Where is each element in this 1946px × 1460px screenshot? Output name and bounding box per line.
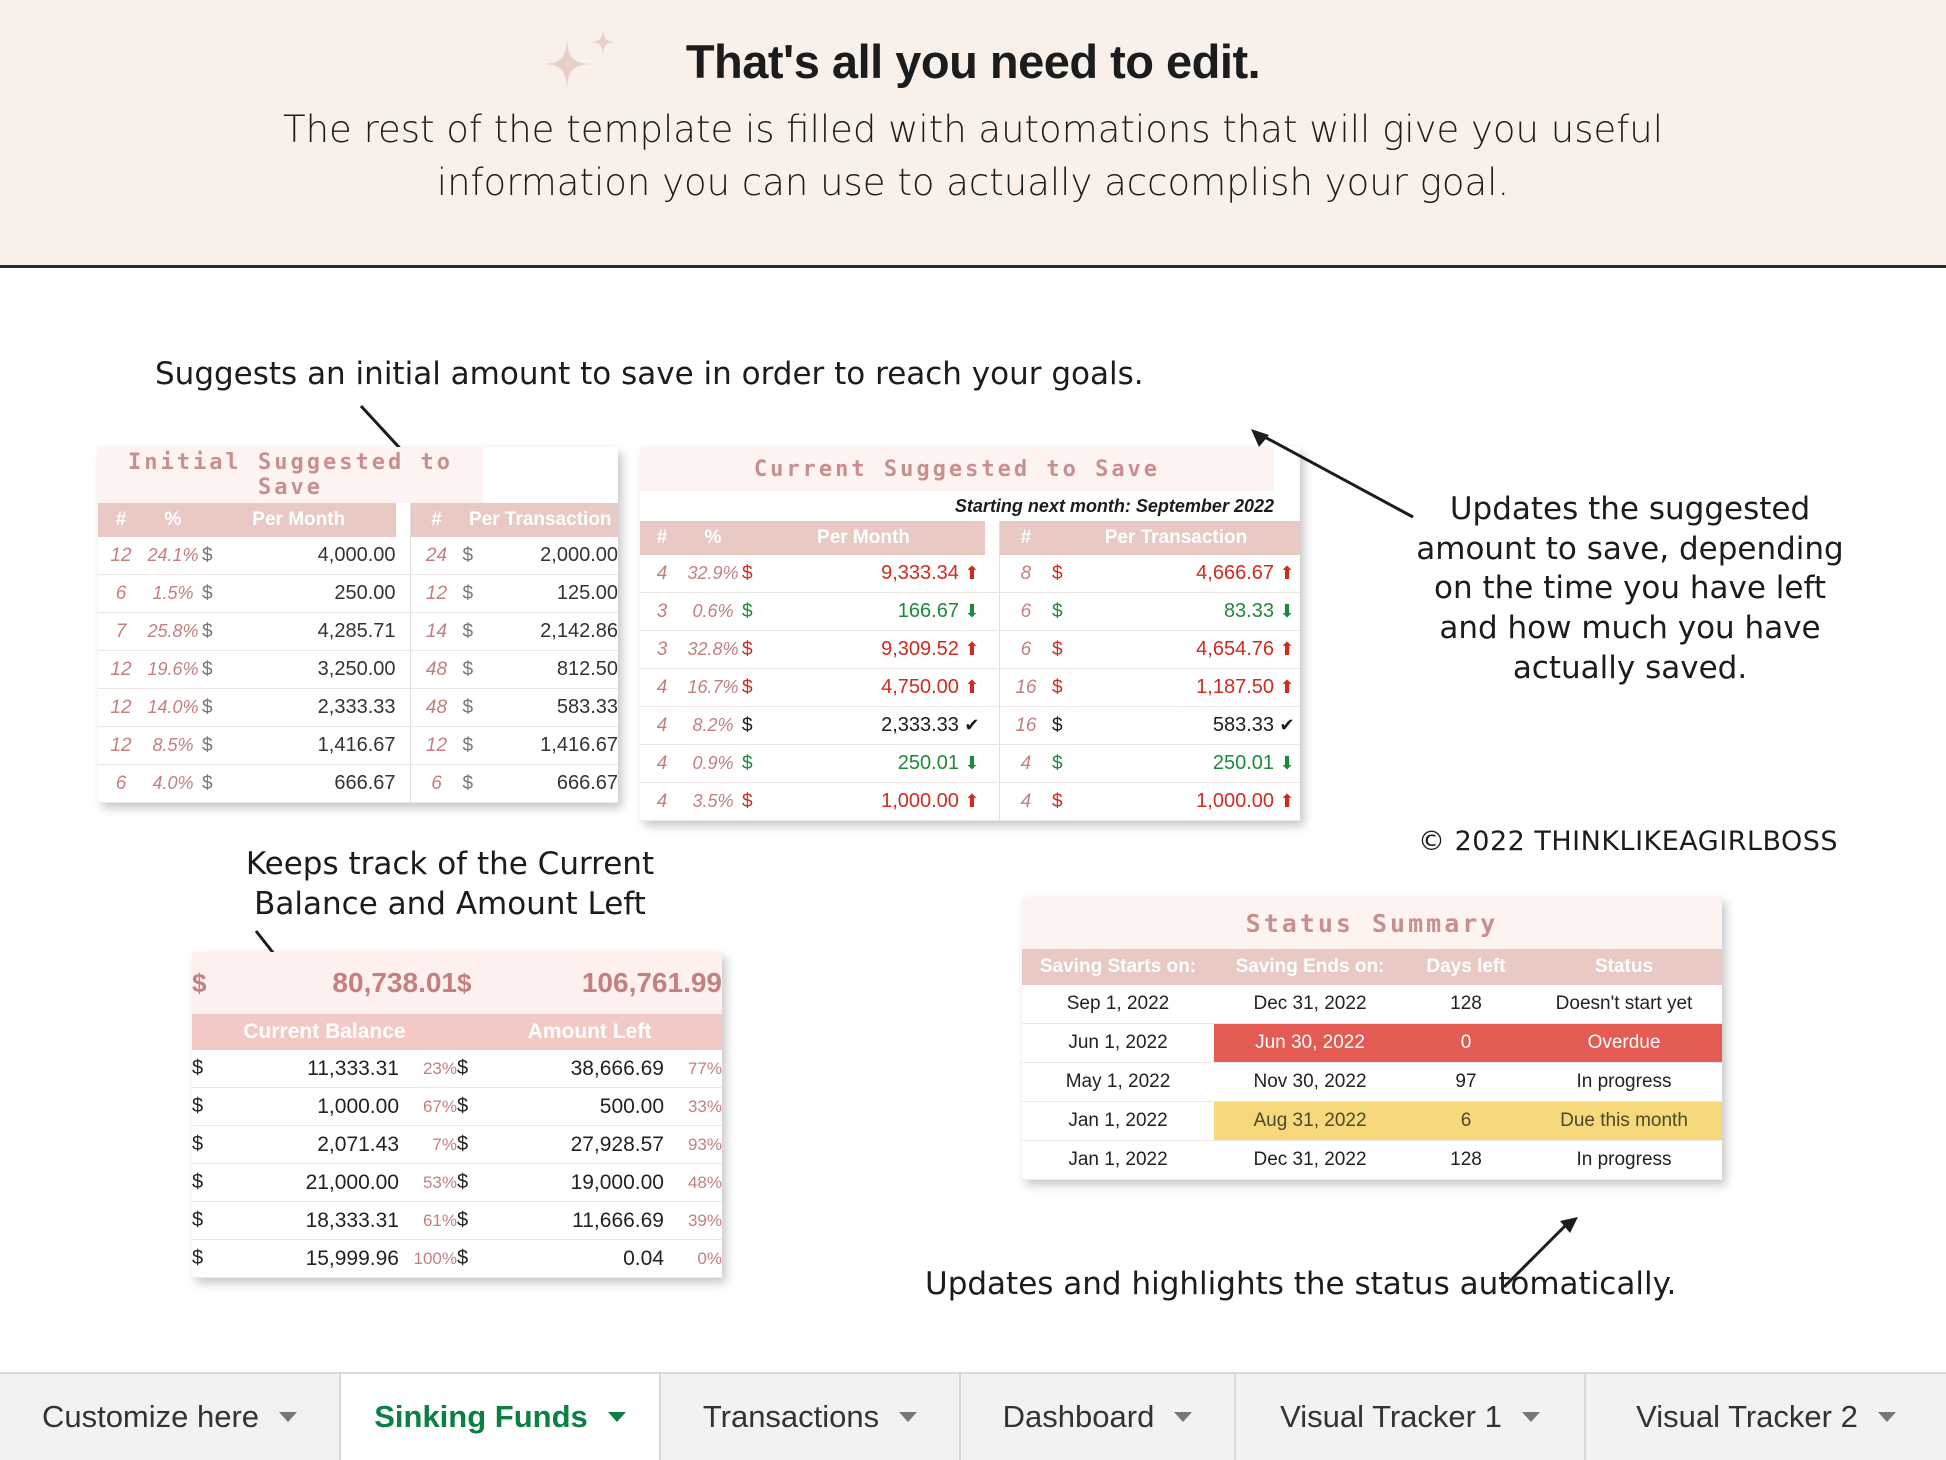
trend-up-icon: ⬆ xyxy=(959,555,985,593)
cell: 38,666.69 xyxy=(495,1050,664,1088)
trend-up-icon: ⬆ xyxy=(959,669,985,707)
cell: $ xyxy=(742,745,768,783)
cell: $ xyxy=(457,1164,495,1202)
cell: $ xyxy=(192,1088,230,1126)
status-table-title: Status Summary xyxy=(1022,897,1722,949)
tab-transactions[interactable]: Transactions xyxy=(661,1374,961,1460)
cell: 27,928.57 xyxy=(495,1126,664,1164)
cell: 4,666.67 xyxy=(1078,555,1274,593)
banner-subtitle-line2: information you can use to actually acco… xyxy=(0,157,1946,210)
cell: 33% xyxy=(664,1088,722,1126)
cell: $ xyxy=(457,1126,495,1164)
cell: 166.67 xyxy=(768,593,959,631)
cell: Jan 1, 2022 xyxy=(1022,1102,1214,1141)
table-row[interactable]: 12 24.1% $ 4,000.00 24 $ 2,000.00 xyxy=(98,537,618,575)
table-row[interactable]: May 1, 2022 Nov 30, 2022 97 In progress xyxy=(1022,1063,1722,1102)
initial-header-4: Per Transaction xyxy=(463,503,619,537)
cell: $ xyxy=(192,1240,230,1278)
cell: $ xyxy=(192,1164,230,1202)
current-header-4: Per Transaction xyxy=(1052,521,1300,555)
cell: 4 xyxy=(640,669,684,707)
cell: $ xyxy=(457,1088,495,1126)
balance-header-0: Current Balance xyxy=(192,1014,457,1050)
cell: 8 xyxy=(999,555,1052,593)
tab-visual-tracker-2[interactable]: Visual Tracker 2 xyxy=(1586,1374,1946,1460)
table-row[interactable]: 12 14.0% $ 2,333.33 48 $ 583.33 xyxy=(98,689,618,727)
cell: 6 xyxy=(999,631,1052,669)
trend-up-icon: ⬆ xyxy=(1274,669,1300,707)
cell xyxy=(396,727,411,765)
current-balance-currency: $ xyxy=(192,952,230,1014)
current-table-title: Current Suggested to Save xyxy=(640,447,1274,491)
annotation-updates-l5: actually saved. xyxy=(1370,649,1890,689)
initial-table-title: Initial Suggested to Save xyxy=(98,447,483,503)
initial-header-1: % xyxy=(144,503,202,537)
cell xyxy=(985,555,1000,593)
cell: $ xyxy=(457,1050,495,1088)
cell: $ xyxy=(1052,593,1079,631)
current-header-0: # xyxy=(640,521,684,555)
cell: $ xyxy=(463,765,484,803)
cell: 12 xyxy=(98,651,144,689)
amount-left-total: 106,761.99 xyxy=(495,952,722,1014)
status-header-1: Saving Ends on: xyxy=(1214,949,1406,985)
cell: 7 xyxy=(98,613,144,651)
cell: 4 xyxy=(640,555,684,593)
table-row[interactable]: 3 32.8% $ 9,309.52 ⬆ 6 $ 4,654.76 ⬆ xyxy=(640,631,1300,669)
check-icon: ✔ xyxy=(959,707,985,745)
cell: 500.00 xyxy=(495,1088,664,1126)
cell: 15,999.96 xyxy=(230,1240,399,1278)
cell: $ xyxy=(192,1202,230,1240)
cell: Aug 31, 2022 xyxy=(1214,1102,1406,1141)
cell: 19.6% xyxy=(144,651,202,689)
cell: Dec 31, 2022 xyxy=(1214,1141,1406,1180)
table-row[interactable]: $ 2,071.43 7% $ 27,928.57 93% xyxy=(192,1126,722,1164)
cell: 1,416.67 xyxy=(483,727,618,765)
table-row[interactable]: $ 1,000.00 67% $ 500.00 33% xyxy=(192,1088,722,1126)
cell: May 1, 2022 xyxy=(1022,1063,1214,1102)
initial-suggested-table[interactable]: Initial Suggested to Save # % Per Month … xyxy=(98,447,618,803)
cell: 9,309.52 xyxy=(768,631,959,669)
cell: Sep 1, 2022 xyxy=(1022,985,1214,1024)
status-badge: Doesn't start yet xyxy=(1526,985,1722,1024)
cell: 3,250.00 xyxy=(225,651,395,689)
banner-subtitle-line1: The rest of the template is filled with … xyxy=(0,104,1946,157)
check-icon: ✔ xyxy=(1274,707,1300,745)
chevron-down-icon[interactable] xyxy=(608,1412,626,1422)
current-spacer xyxy=(985,521,1000,555)
table-row[interactable]: 6 1.5% $ 250.00 12 $ 125.00 xyxy=(98,575,618,613)
cell: 97 xyxy=(1406,1063,1526,1102)
cell: 4,654.76 xyxy=(1078,631,1274,669)
table-row[interactable]: Jan 1, 2022 Aug 31, 2022 6 Due this mont… xyxy=(1022,1102,1722,1141)
trend-down-icon: ⬇ xyxy=(959,745,985,783)
table-row[interactable]: 12 19.6% $ 3,250.00 48 $ 812.50 xyxy=(98,651,618,689)
table-row[interactable]: 4 3.5% $ 1,000.00 ⬆ 4 $ 1,000.00 ⬆ xyxy=(640,783,1300,821)
cell xyxy=(985,783,1000,821)
cell: 4 xyxy=(640,707,684,745)
header-banner: That's all you need to edit. The rest of… xyxy=(0,0,1946,268)
table-row[interactable]: Jan 1, 2022 Dec 31, 2022 128 In progress xyxy=(1022,1141,1722,1180)
cell: $ xyxy=(457,1240,495,1278)
starting-next-month-note: Starting next month: September 2022 xyxy=(640,491,1274,521)
cell: 21,000.00 xyxy=(230,1164,399,1202)
cell xyxy=(396,537,411,575)
status-header-0: Saving Starts on: xyxy=(1022,949,1214,985)
cell: 18,333.31 xyxy=(230,1202,399,1240)
cell: 6 xyxy=(999,593,1052,631)
trend-up-icon: ⬆ xyxy=(959,783,985,821)
status-badge: In progress xyxy=(1526,1063,1722,1102)
cell: 4.0% xyxy=(144,765,202,803)
cell: 2,333.33 xyxy=(225,689,395,727)
cell: Nov 30, 2022 xyxy=(1214,1063,1406,1102)
cell: 3 xyxy=(640,631,684,669)
cell: 9,333.34 xyxy=(768,555,959,593)
cell: 2,333.33 xyxy=(768,707,959,745)
cell: 6 xyxy=(1406,1102,1526,1141)
chevron-down-icon[interactable] xyxy=(1174,1412,1192,1422)
table-row[interactable]: 4 32.9% $ 9,333.34 ⬆ 8 $ 4,666.67 ⬆ xyxy=(640,555,1300,593)
cell: $ xyxy=(1052,669,1079,707)
initial-header-0: # xyxy=(98,503,144,537)
cell: 32.8% xyxy=(684,631,742,669)
cell: 100% xyxy=(399,1240,457,1278)
cell: 3.5% xyxy=(684,783,742,821)
amount-left-currency: $ xyxy=(457,952,495,1014)
cell xyxy=(396,613,411,651)
cell: 1,000.00 xyxy=(768,783,959,821)
cell: 666.67 xyxy=(483,765,618,803)
current-header-1: % xyxy=(684,521,742,555)
cell: 32.9% xyxy=(684,555,742,593)
cell: 16 xyxy=(999,707,1052,745)
cell: 1,416.67 xyxy=(225,727,395,765)
table-row[interactable]: $ 15,999.96 100% $ 0.04 0% xyxy=(192,1240,722,1278)
tab-visual-tracker-1[interactable]: Visual Tracker 1 xyxy=(1236,1374,1586,1460)
status-badge: In progress xyxy=(1526,1141,1722,1180)
cell: 2,000.00 xyxy=(483,537,618,575)
tab-dashboard[interactable]: Dashboard xyxy=(961,1374,1236,1460)
cell: 6 xyxy=(410,765,463,803)
cell: $ xyxy=(742,707,768,745)
cell: 1,000.00 xyxy=(1078,783,1274,821)
initial-header-2: Per Month xyxy=(202,503,396,537)
cell: 83.33 xyxy=(1078,593,1274,631)
chevron-down-icon[interactable] xyxy=(279,1412,297,1422)
cell xyxy=(985,593,1000,631)
cell: 0.04 xyxy=(495,1240,664,1278)
cell: 24.1% xyxy=(144,537,202,575)
cell: 12 xyxy=(98,537,144,575)
cell: 16.7% xyxy=(684,669,742,707)
cell: 4,750.00 xyxy=(768,669,959,707)
cell xyxy=(396,575,411,613)
banner-title: That's all you need to edit. xyxy=(0,34,1946,89)
cell: 39% xyxy=(664,1202,722,1240)
status-badge: Due this month xyxy=(1526,1102,1722,1141)
cell: $ xyxy=(463,689,484,727)
cell: $ xyxy=(457,1202,495,1240)
cell: $ xyxy=(202,765,225,803)
cell: Jun 1, 2022 xyxy=(1022,1024,1214,1063)
cell: $ xyxy=(463,575,484,613)
cell: $ xyxy=(463,613,484,651)
cell: $ xyxy=(1052,631,1079,669)
trend-up-icon: ⬆ xyxy=(959,631,985,669)
cell: 812.50 xyxy=(483,651,618,689)
trend-up-icon: ⬆ xyxy=(1274,631,1300,669)
cell: Jan 1, 2022 xyxy=(1022,1141,1214,1180)
chevron-down-icon[interactable] xyxy=(1878,1412,1896,1422)
cell: 6 xyxy=(98,765,144,803)
cell: $ xyxy=(1052,783,1079,821)
cell xyxy=(985,631,1000,669)
cell xyxy=(396,689,411,727)
cell: 7% xyxy=(399,1126,457,1164)
tab-label: Visual Tracker 1 xyxy=(1280,1399,1502,1435)
trend-up-icon: ⬆ xyxy=(1274,783,1300,821)
cell: 12 xyxy=(98,727,144,765)
cell: $ xyxy=(202,613,225,651)
cell: 583.33 xyxy=(1078,707,1274,745)
cell: Dec 31, 2022 xyxy=(1214,985,1406,1024)
trend-down-icon: ⬇ xyxy=(959,593,985,631)
initial-header-3: # xyxy=(410,503,463,537)
cell: $ xyxy=(202,727,225,765)
table-row[interactable]: Jun 1, 2022 Jun 30, 2022 0 Overdue xyxy=(1022,1024,1722,1063)
cell: $ xyxy=(742,555,768,593)
tab-label: Transactions xyxy=(703,1399,879,1435)
table-row[interactable]: 12 8.5% $ 1,416.67 12 $ 1,416.67 xyxy=(98,727,618,765)
cell: 583.33 xyxy=(483,689,618,727)
cell: 16 xyxy=(999,669,1052,707)
cell: 128 xyxy=(1406,985,1526,1024)
cell: 250.01 xyxy=(768,745,959,783)
cell: 61% xyxy=(399,1202,457,1240)
cell: 24 xyxy=(410,537,463,575)
cell xyxy=(985,745,1000,783)
table-row[interactable]: 4 0.9% $ 250.01 ⬇ 4 $ 250.01 ⬇ xyxy=(640,745,1300,783)
annotation-status: Updates and highlights the status automa… xyxy=(925,1265,1925,1305)
cell: 77% xyxy=(664,1050,722,1088)
balance-table[interactable]: $ 80,738.01 $ 106,761.99 Current Balance… xyxy=(192,952,722,1278)
sheet-tab-bar: Customize here Sinking Funds Transaction… xyxy=(0,1372,1946,1460)
cell: 1,000.00 xyxy=(230,1088,399,1126)
cell: 23% xyxy=(399,1050,457,1088)
chevron-down-icon[interactable] xyxy=(1522,1412,1540,1422)
copyright-text: © 2022 THINKLIKEAGIRLBOSS xyxy=(1418,826,1838,857)
cell: 0% xyxy=(664,1240,722,1278)
tab-label: Visual Tracker 2 xyxy=(1636,1399,1858,1435)
cell: 3 xyxy=(640,593,684,631)
cell: 53% xyxy=(399,1164,457,1202)
cell: 128 xyxy=(1406,1141,1526,1180)
annotation-updates-l3: on the time you have left xyxy=(1370,569,1890,609)
table-row[interactable]: 4 8.2% $ 2,333.33 ✔ 16 $ 583.33 ✔ xyxy=(640,707,1300,745)
annotation-balance-l1: Keeps track of the Current xyxy=(195,845,705,885)
banner-subtitle: The rest of the template is filled with … xyxy=(0,104,1946,209)
annotation-updates: Updates the suggested amount to save, de… xyxy=(1370,490,1890,688)
table-row[interactable]: 6 4.0% $ 666.67 6 $ 666.67 xyxy=(98,765,618,803)
cell: 4 xyxy=(640,745,684,783)
cell: Jun 30, 2022 xyxy=(1214,1024,1406,1063)
current-suggested-table[interactable]: Current Suggested to Save Starting next … xyxy=(640,447,1300,821)
tab-label: Customize here xyxy=(42,1399,259,1435)
cell: $ xyxy=(463,727,484,765)
cell: 4 xyxy=(999,745,1052,783)
cell: 4,000.00 xyxy=(225,537,395,575)
annotation-updates-l2: amount to save, depending xyxy=(1370,530,1890,570)
cell: $ xyxy=(192,1050,230,1088)
tab-label: Dashboard xyxy=(1003,1399,1155,1435)
trend-down-icon: ⬇ xyxy=(1274,593,1300,631)
cell: 0 xyxy=(1406,1024,1526,1063)
chevron-down-icon[interactable] xyxy=(899,1412,917,1422)
cell: 48% xyxy=(664,1164,722,1202)
cell: 0.6% xyxy=(684,593,742,631)
trend-up-icon: ⬆ xyxy=(1274,555,1300,593)
status-badge: Overdue xyxy=(1526,1024,1722,1063)
cell: 1,187.50 xyxy=(1078,669,1274,707)
annotation-balance: Keeps track of the Current Balance and A… xyxy=(195,845,705,924)
cell xyxy=(985,669,1000,707)
cell: 1.5% xyxy=(144,575,202,613)
cell: 48 xyxy=(410,651,463,689)
annotation-initial: Suggests an initial amount to save in or… xyxy=(155,355,1375,395)
table-row[interactable]: $ 11,333.31 23% $ 38,666.69 77% xyxy=(192,1050,722,1088)
current-balance-total: 80,738.01 xyxy=(230,952,457,1014)
cell: $ xyxy=(742,783,768,821)
cell: $ xyxy=(463,651,484,689)
cell: $ xyxy=(202,537,225,575)
status-header-3: Status xyxy=(1526,949,1722,985)
cell: 4 xyxy=(640,783,684,821)
cell: 4,285.71 xyxy=(225,613,395,651)
cell: 19,000.00 xyxy=(495,1164,664,1202)
cell: $ xyxy=(202,651,225,689)
table-row[interactable]: $ 21,000.00 53% $ 19,000.00 48% xyxy=(192,1164,722,1202)
balance-header-1: Amount Left xyxy=(457,1014,722,1050)
cell: $ xyxy=(202,575,225,613)
annotation-balance-l2: Balance and Amount Left xyxy=(195,885,705,925)
table-row[interactable]: $ 18,333.31 61% $ 11,666.69 39% xyxy=(192,1202,722,1240)
cell xyxy=(396,651,411,689)
cell: $ xyxy=(202,689,225,727)
cell: 4 xyxy=(999,783,1052,821)
tab-sinking-funds[interactable]: Sinking Funds xyxy=(341,1374,661,1460)
table-row[interactable]: Sep 1, 2022 Dec 31, 2022 128 Doesn't sta… xyxy=(1022,985,1722,1024)
table-row[interactable]: 7 25.8% $ 4,285.71 14 $ 2,142.86 xyxy=(98,613,618,651)
current-header-3: # xyxy=(999,521,1052,555)
cell: 2,142.86 xyxy=(483,613,618,651)
table-row[interactable]: 3 0.6% $ 166.67 ⬇ 6 $ 83.33 ⬇ xyxy=(640,593,1300,631)
cell: 67% xyxy=(399,1088,457,1126)
cell: 12 xyxy=(98,689,144,727)
cell: $ xyxy=(463,537,484,575)
cell: $ xyxy=(1052,555,1079,593)
status-header-2: Days left xyxy=(1406,949,1526,985)
cell: 14.0% xyxy=(144,689,202,727)
tab-label: Sinking Funds xyxy=(374,1399,588,1435)
cell: 666.67 xyxy=(225,765,395,803)
cell: 11,666.69 xyxy=(495,1202,664,1240)
status-summary-table[interactable]: Status Summary Saving Starts on: Saving … xyxy=(1022,897,1722,1180)
cell: 48 xyxy=(410,689,463,727)
cell: $ xyxy=(742,669,768,707)
cell: 125.00 xyxy=(483,575,618,613)
current-header-2: Per Month xyxy=(742,521,985,555)
cell: 11,333.31 xyxy=(230,1050,399,1088)
cell: 250.01 xyxy=(1078,745,1274,783)
cell: $ xyxy=(192,1126,230,1164)
cell xyxy=(985,707,1000,745)
cell: $ xyxy=(742,593,768,631)
trend-down-icon: ⬇ xyxy=(1274,745,1300,783)
cell: 6 xyxy=(98,575,144,613)
cell: 250.00 xyxy=(225,575,395,613)
table-row[interactable]: 4 16.7% $ 4,750.00 ⬆ 16 $ 1,187.50 ⬆ xyxy=(640,669,1300,707)
cell: 12 xyxy=(410,575,463,613)
cell: 8.5% xyxy=(144,727,202,765)
cell: $ xyxy=(1052,745,1079,783)
cell: 0.9% xyxy=(684,745,742,783)
tab-customize-here[interactable]: Customize here xyxy=(0,1374,341,1460)
cell: 14 xyxy=(410,613,463,651)
cell: 12 xyxy=(410,727,463,765)
annotation-updates-l1: Updates the suggested xyxy=(1370,490,1890,530)
initial-spacer xyxy=(396,503,411,537)
cell: 8.2% xyxy=(684,707,742,745)
cell: 2,071.43 xyxy=(230,1126,399,1164)
cell xyxy=(396,765,411,803)
cell: 25.8% xyxy=(144,613,202,651)
annotation-updates-l4: and how much you have xyxy=(1370,609,1890,649)
cell: 93% xyxy=(664,1126,722,1164)
cell: $ xyxy=(742,631,768,669)
cell: $ xyxy=(1052,707,1079,745)
